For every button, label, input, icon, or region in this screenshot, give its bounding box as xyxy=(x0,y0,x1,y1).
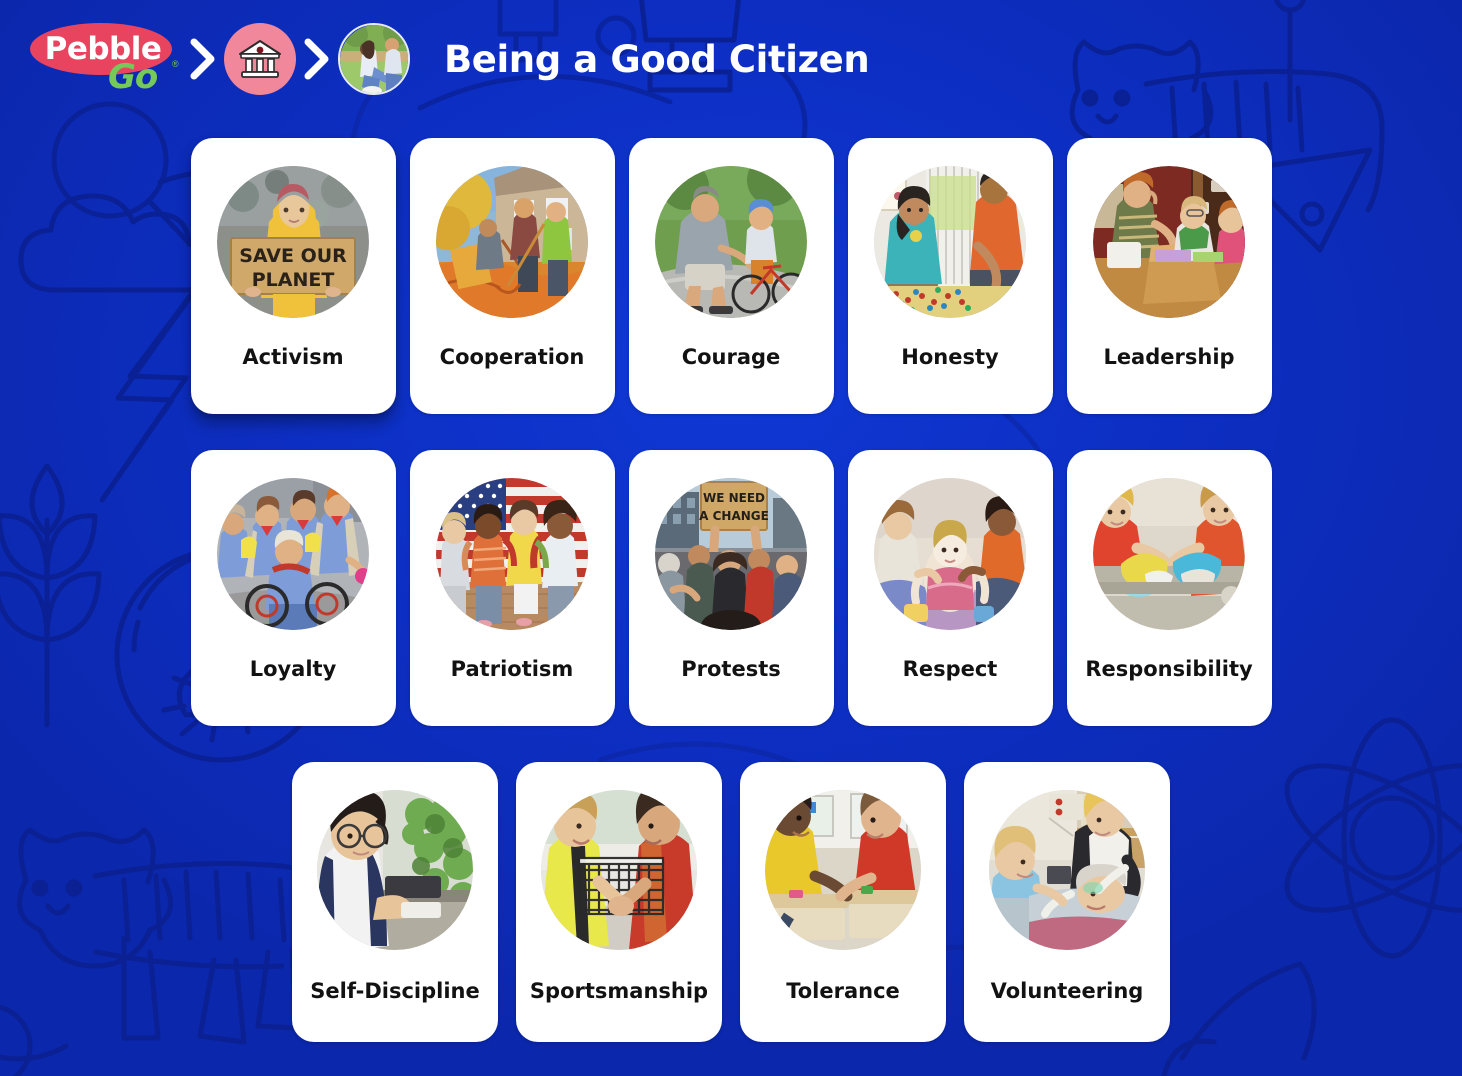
topic-card-grid: SAVE OUR PLANET Activism xyxy=(0,138,1462,1076)
svg-text:PLANET: PLANET xyxy=(252,269,335,291)
responsibility-photo xyxy=(1093,478,1245,630)
card-label: Loyalty xyxy=(244,656,343,682)
card-label: Self-Discipline xyxy=(304,978,485,1004)
logo-trademark: ® xyxy=(172,59,179,69)
card-label: Courage xyxy=(676,344,787,370)
pebblego-logo[interactable]: Pebble Go ® xyxy=(22,13,182,105)
breadcrumb-chevron-2 xyxy=(300,38,334,80)
card-row-2: Loyalty xyxy=(0,450,1462,726)
app-header: Pebble Go ® xyxy=(0,0,1462,118)
card-label: Tolerance xyxy=(780,978,906,1004)
card-row-3: Self-Discipline xyxy=(0,762,1462,1042)
topic-card-cooperation[interactable]: Cooperation xyxy=(410,138,615,414)
topic-card-self-discipline[interactable]: Self-Discipline xyxy=(292,762,498,1042)
breadcrumb-chevron-1 xyxy=(186,38,220,80)
card-label: Sportsmanship xyxy=(524,978,714,1004)
svg-text:A CHANGE: A CHANGE xyxy=(699,509,769,523)
leadership-photo xyxy=(1093,166,1245,318)
card-label: Activism xyxy=(236,344,349,370)
patriotism-photo xyxy=(436,478,588,630)
card-label: Protests xyxy=(675,656,787,682)
topic-card-loyalty[interactable]: Loyalty xyxy=(191,450,396,726)
self-discipline-photo xyxy=(317,790,473,950)
chevron-right-icon xyxy=(304,38,330,80)
topic-thumbnail xyxy=(340,25,410,95)
sportsmanship-photo xyxy=(541,790,697,950)
activism-photo: SAVE OUR PLANET xyxy=(217,166,369,318)
topic-card-honesty[interactable]: Honesty xyxy=(848,138,1053,414)
topic-card-respect[interactable]: Respect xyxy=(848,450,1053,726)
topic-card-volunteering[interactable]: Volunteering xyxy=(964,762,1170,1042)
topic-card-activism[interactable]: SAVE OUR PLANET Activism xyxy=(191,138,396,414)
card-label: Cooperation xyxy=(434,344,591,370)
cooperation-photo xyxy=(436,166,588,318)
card-label: Patriotism xyxy=(445,656,580,682)
tolerance-photo: 4 7 xyxy=(765,790,921,950)
page-root: Pebble Go ® xyxy=(0,0,1462,1076)
topic-card-responsibility[interactable]: Responsibility xyxy=(1067,450,1272,726)
card-label: Honesty xyxy=(895,344,1004,370)
loyalty-photo xyxy=(217,478,369,630)
topic-card-protests[interactable]: WE NEED A CHANGE xyxy=(629,450,834,726)
topic-card-courage[interactable]: Courage xyxy=(629,138,834,414)
svg-text:SAVE OUR: SAVE OUR xyxy=(239,245,347,267)
svg-text:WE NEED: WE NEED xyxy=(703,491,765,505)
page-title: Being a Good Citizen xyxy=(444,38,869,81)
bank-building-icon xyxy=(238,38,282,80)
topic-card-leadership[interactable]: Leadership xyxy=(1067,138,1272,414)
card-label: Responsibility xyxy=(1079,656,1258,682)
card-label: Respect xyxy=(897,656,1004,682)
card-label: Leadership xyxy=(1097,344,1240,370)
protests-photo: WE NEED A CHANGE xyxy=(655,478,807,630)
honesty-photo xyxy=(874,166,1026,318)
logo-go-text: Go xyxy=(108,57,157,97)
breadcrumb-item-being-a-good-citizen[interactable] xyxy=(338,23,410,95)
topic-card-tolerance[interactable]: 4 7 xyxy=(740,762,946,1042)
chevron-right-icon xyxy=(190,38,216,80)
card-row-1: SAVE OUR PLANET Activism xyxy=(0,138,1462,414)
courage-photo xyxy=(655,166,807,318)
respect-photo xyxy=(874,478,1026,630)
card-label: Volunteering xyxy=(985,978,1150,1004)
topic-card-patriotism[interactable]: Patriotism xyxy=(410,450,615,726)
topic-card-sportsmanship[interactable]: Sportsmanship xyxy=(516,762,722,1042)
volunteering-photo xyxy=(989,790,1145,950)
breadcrumb-item-social-studies[interactable] xyxy=(224,23,296,95)
